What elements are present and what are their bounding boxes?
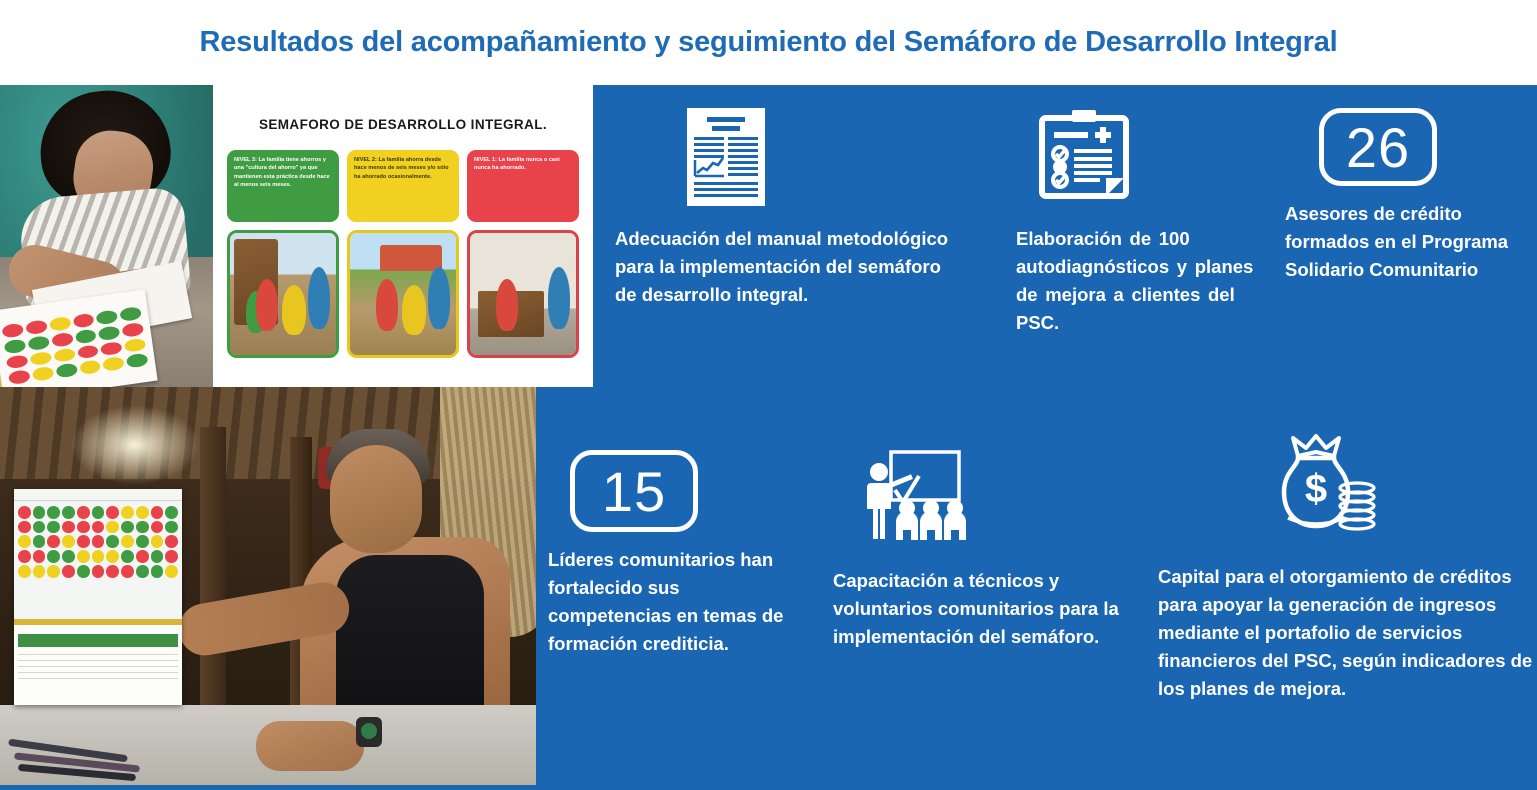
semaforo-poster: SEMAFORO DE DESARROLLO INTEGRAL. NIVEL 3… — [213, 85, 593, 387]
photo-man-pointing-semaforo-chart — [0, 387, 536, 785]
semaforo-level-2-label: NIVEL 2: — [354, 157, 377, 163]
semaforo-level-1: NIVEL 1: La familia nunca o casi nunca h… — [467, 150, 579, 222]
number-badge-26-value: 26 — [1319, 108, 1437, 186]
card-elaboracion-autodiagnosticos-text: Elaboración de 100 autodiagnósticos y pl… — [1016, 225, 1256, 337]
card-asesores-credito: 26 Asesores de crédito formados en el Pr… — [1285, 108, 1530, 284]
semaforo-level-3-label: NIVEL 3: — [234, 157, 257, 163]
card-capital-creditos: $ Capital para el otorgamiento de crédit… — [1158, 432, 1537, 704]
card-elaboracion-autodiagnosticos: Elaboración de 100 autodiagnósticos y pl… — [1016, 108, 1266, 337]
page-header: Resultados del acompañamiento y seguimie… — [0, 0, 1537, 85]
card-capital-creditos-text: Capital para el otorgamiento de créditos… — [1158, 563, 1533, 704]
presentation-training-icon — [863, 450, 1133, 553]
bottom-blue-strip — [0, 785, 537, 790]
semaforo-levels: NIVEL 3: La familia tiene ahorros y una … — [223, 150, 583, 222]
card-lideres-comunitarios: 15 Líderes comunitarios han fortalecido … — [548, 450, 798, 658]
card-capacitacion-tecnicos: Capacitación a técnicos y voluntarios co… — [833, 450, 1133, 651]
card-adecuacion-manual-text: Adecuación del manual metodológico para … — [615, 225, 965, 309]
money-bag-coins-icon: $ — [1258, 432, 1537, 541]
semaforo-illustrations — [223, 222, 583, 358]
page-title: Resultados del acompañamiento y seguimie… — [199, 26, 1337, 59]
card-capacitacion-tecnicos-text: Capacitación a técnicos y voluntarios co… — [833, 567, 1128, 651]
family-semaforo-chart — [14, 489, 182, 705]
semaforo-level-2: NIVEL 2: La familia ahorra desde hace me… — [347, 150, 459, 222]
semaforo-level-3: NIVEL 3: La familia tiene ahorros y una … — [227, 150, 339, 222]
number-badge-15: 15 — [548, 450, 798, 532]
card-adecuacion-manual: Adecuación del manual metodológico para … — [615, 108, 970, 309]
semaforo-poster-title: SEMAFORO DE DESARROLLO INTEGRAL. — [223, 117, 583, 132]
semaforo-dot-grid — [0, 304, 151, 387]
number-badge-15-value: 15 — [570, 450, 698, 532]
clipboard-checklist-icon — [1034, 108, 1266, 211]
semaforo-level-1-label: NIVEL 1: — [474, 157, 497, 163]
photo-woman-filling-semaforo — [0, 85, 213, 387]
document-chart-icon — [687, 108, 970, 211]
semaforo-illustration-yellow — [347, 230, 459, 358]
semaforo-illustration-red — [467, 230, 579, 358]
card-lideres-comunitarios-text: Líderes comunitarios han fortalecido sus… — [548, 546, 793, 658]
semaforo-illustration-green — [227, 230, 339, 358]
card-asesores-credito-text: Asesores de crédito formados en el Progr… — [1285, 200, 1520, 284]
svg-text:$: $ — [1305, 467, 1327, 511]
number-badge-26: 26 — [1285, 108, 1530, 186]
top-media-strip: SEMAFORO DE DESARROLLO INTEGRAL. NIVEL 3… — [0, 85, 593, 387]
